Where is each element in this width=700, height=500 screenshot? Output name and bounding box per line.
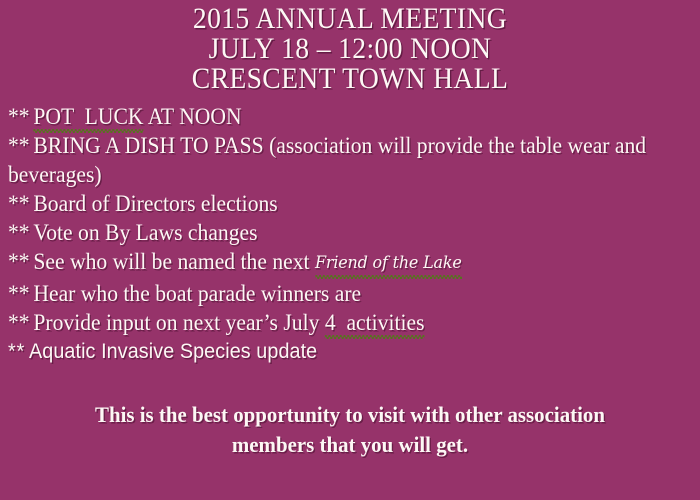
list-item: **Hear who the boat parade winners are bbox=[8, 279, 690, 308]
bullet-marker: ** bbox=[8, 191, 30, 216]
list-item: **POT LUCK AT NOON bbox=[8, 102, 690, 131]
list-item: **Provide input on next year’s July 4 ac… bbox=[8, 308, 690, 337]
closing-statement-line-2: members that you will get. bbox=[38, 430, 661, 460]
spellcheck-underlined-text: POT LUCK bbox=[33, 102, 143, 131]
list-item-label: Aquatic Invasive Species update bbox=[29, 340, 317, 363]
bullet-marker: ** bbox=[8, 133, 30, 158]
heading-line-title: 2015 ANNUAL MEETING bbox=[28, 4, 672, 34]
bullet-marker: ** bbox=[8, 340, 25, 363]
list-item: **Aquatic Invasive Species update bbox=[8, 337, 690, 366]
meeting-announcement-flyer: 2015 ANNUAL MEETING JULY 18 – 12:00 NOON… bbox=[0, 0, 700, 500]
list-item: **See who will be named the next Friend … bbox=[8, 247, 690, 279]
bullet-marker: ** bbox=[8, 281, 30, 306]
list-item: **Vote on By Laws changes bbox=[8, 218, 690, 247]
list-item-label: See who will be named the next bbox=[33, 249, 315, 274]
spellcheck-underlined-text: 4 activities bbox=[325, 308, 425, 337]
bullet-marker: ** bbox=[8, 249, 30, 274]
bullet-marker: ** bbox=[8, 310, 30, 335]
agenda-list: **POT LUCK AT NOON **BRING A DISH TO PAS… bbox=[0, 102, 700, 366]
bullet-marker: ** bbox=[8, 220, 30, 245]
closing-statement: This is the best opportunity to visit wi… bbox=[22, 400, 678, 460]
heading-line-venue: CRESCENT TOWN HALL bbox=[28, 64, 672, 94]
list-item: **Board of Directors elections bbox=[8, 189, 690, 218]
closing-statement-line-1: This is the best opportunity to visit wi… bbox=[38, 400, 661, 430]
list-item-label: Hear who the boat parade winners are bbox=[33, 281, 361, 306]
list-item-label: BRING A DISH TO PASS (association will p… bbox=[8, 133, 646, 187]
list-item-label: Vote on By Laws changes bbox=[33, 220, 257, 245]
heading-line-datetime: JULY 18 – 12:00 NOON bbox=[28, 34, 672, 64]
heading-block: 2015 ANNUAL MEETING JULY 18 – 12:00 NOON… bbox=[0, 0, 700, 94]
bullet-marker: ** bbox=[8, 104, 30, 129]
list-item-label: Provide input on next year’s July bbox=[33, 310, 324, 335]
list-item-label: Board of Directors elections bbox=[33, 191, 277, 216]
award-name-script-text: Friend of the Lake bbox=[315, 249, 462, 278]
list-item: **BRING A DISH TO PASS (association will… bbox=[8, 131, 690, 189]
list-item-label: AT NOON bbox=[144, 104, 242, 129]
